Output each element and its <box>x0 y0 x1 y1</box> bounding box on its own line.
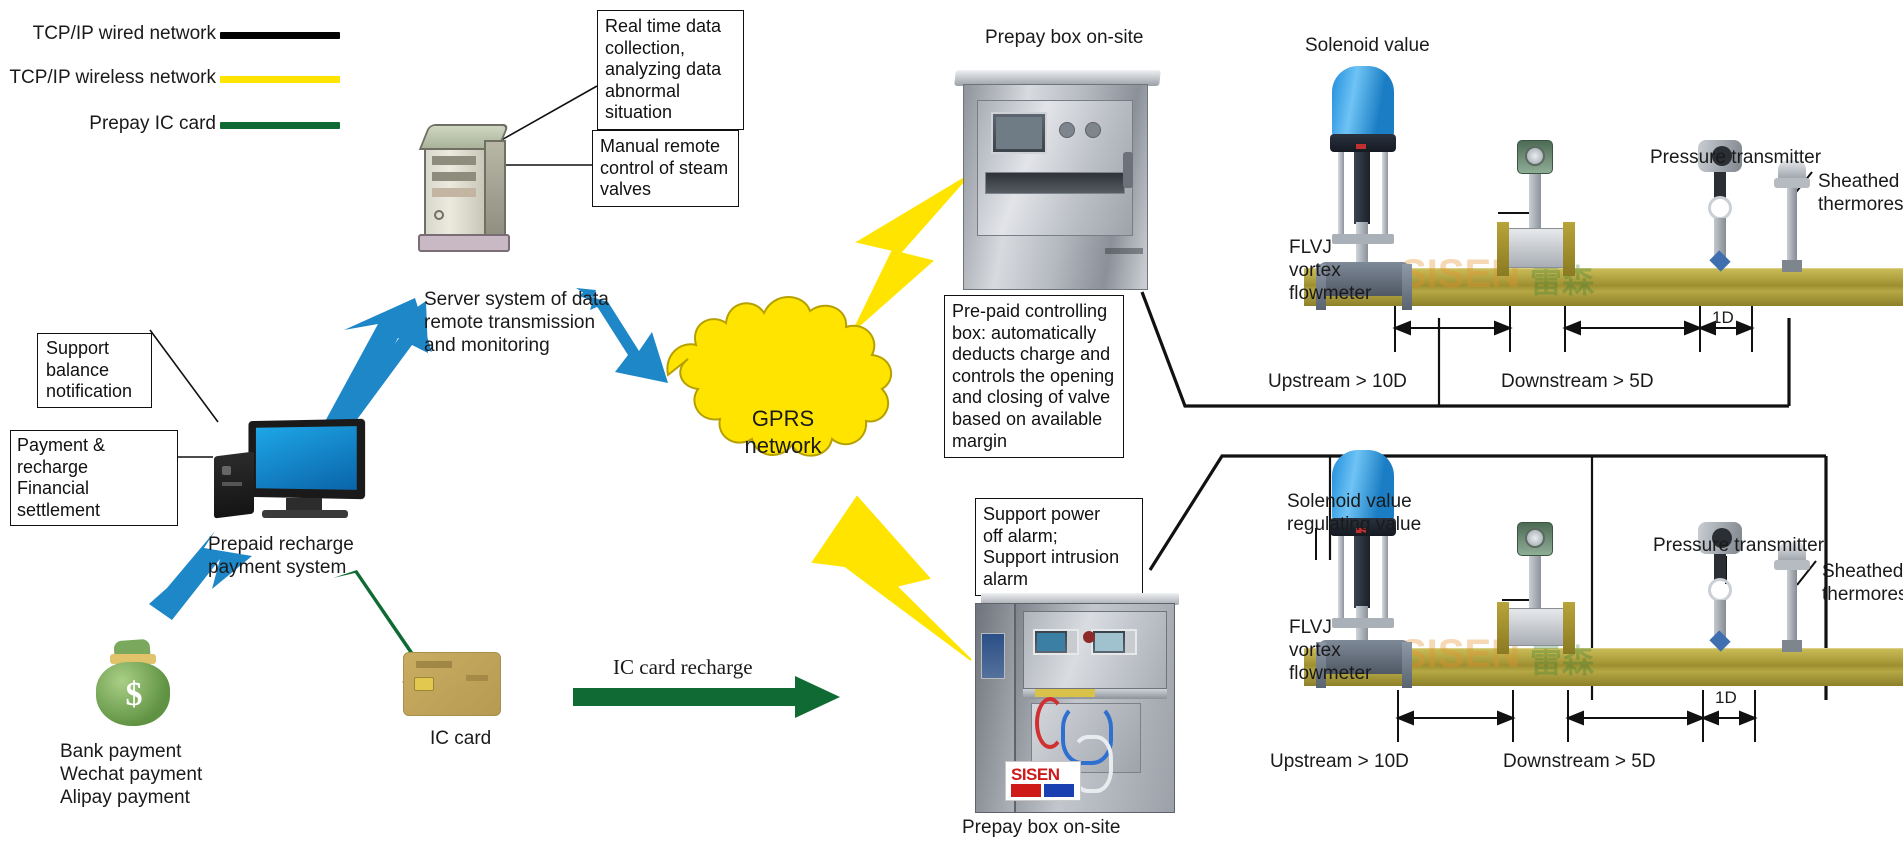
label-solenoid-upper: Solenoid value <box>1305 34 1430 57</box>
leader-support-balance <box>150 330 218 422</box>
legend-label-1: TCP/IP wireless network <box>9 66 216 89</box>
callout-realtime-data: Real time data collection, analyzing dat… <box>597 10 744 130</box>
callout-prepaid-controlling-box: Pre-paid controlling box: automatically … <box>944 295 1124 458</box>
ic-card-icon <box>403 652 501 716</box>
legend-swatch-prepay <box>220 122 340 129</box>
server-icon <box>418 122 510 252</box>
legend-swatch-wireless <box>220 76 340 83</box>
label-thermo-lower: Sheathed thermoresistor <box>1822 560 1903 606</box>
label-flowmeter-lower: FLVJ vortex flowmeter <box>1289 616 1381 686</box>
vortex-flowmeter-lower <box>1495 522 1575 688</box>
thermoresistor-lower <box>1768 542 1814 688</box>
legend-label-0: TCP/IP wired network <box>33 22 216 45</box>
legend-row-0: TCP/IP wired network <box>10 22 340 50</box>
ic-card-label: IC card <box>430 727 491 750</box>
label-pressure-lower: Pressure transmitter <box>1653 534 1824 557</box>
arrow-ic-card-recharge <box>573 676 840 718</box>
prepay-box-bottom-label: Prepay box on-site <box>962 816 1120 839</box>
pipeline-upper: SISEN 雷森 <box>1290 40 1903 360</box>
thermoresistor-upper <box>1768 160 1814 308</box>
legend-row-1: TCP/IP wireless network <box>10 66 340 94</box>
ic-card-recharge-label: IC card recharge <box>613 655 753 681</box>
pipeline-lower: SISEN 雷森 <box>1290 430 1903 750</box>
prepay-box-top-image <box>955 60 1160 290</box>
money-bag-icon: $ <box>88 640 178 730</box>
label-downstream-lower: Downstream > 5D <box>1503 750 1656 773</box>
callout-manual-control: Manual remote control of steam valves <box>592 130 739 207</box>
label-flowmeter-upper: FLVJ vortex flowmeter <box>1289 236 1381 306</box>
server-label: Server system of data remote transmissio… <box>424 288 624 358</box>
sisen-logo-plate: SISEN <box>1005 761 1081 801</box>
label-1d-upper: 1D <box>1712 308 1734 329</box>
label-thermo-upper: Sheathed thermoresistor <box>1818 170 1903 216</box>
label-pressure-upper: Pressure transmitter <box>1650 146 1821 169</box>
label-upstream-lower: Upstream > 10D <box>1270 750 1409 773</box>
bolt-lower <box>813 497 971 660</box>
prepay-box-top-label: Prepay box on-site <box>985 26 1143 49</box>
callout-payment-settlement: Payment & recharge Financial settlement <box>10 430 178 526</box>
legend-label-2: Prepay IC card <box>89 112 216 135</box>
pc-icon <box>200 420 365 530</box>
diagram-canvas: TCP/IP wired network TCP/IP wireless net… <box>0 0 1903 850</box>
legend-swatch-wired <box>220 32 340 39</box>
gprs-network-label: GPRS network <box>718 406 848 460</box>
prepay-box-bottom-image: SISEN <box>975 585 1180 815</box>
callout-alarm: Support power off alarm; Support intrusi… <box>975 498 1143 596</box>
sisen-logo-text: SISEN <box>1011 765 1060 785</box>
vortex-flowmeter-upper <box>1495 140 1575 308</box>
pc-label: Prepaid recharge payment system <box>208 533 398 579</box>
callout-support-balance: Support balance notification <box>37 333 152 408</box>
label-1d-lower: 1D <box>1715 688 1737 709</box>
legend-row-2: Prepay IC card <box>10 112 340 140</box>
label-upstream-upper: Upstream > 10D <box>1268 370 1407 393</box>
label-solenoid-lower: Solenoid value regulating value <box>1287 490 1507 536</box>
payment-methods-label: Bank payment Wechat payment Alipay payme… <box>60 740 320 810</box>
label-downstream-upper: Downstream > 5D <box>1501 370 1654 393</box>
